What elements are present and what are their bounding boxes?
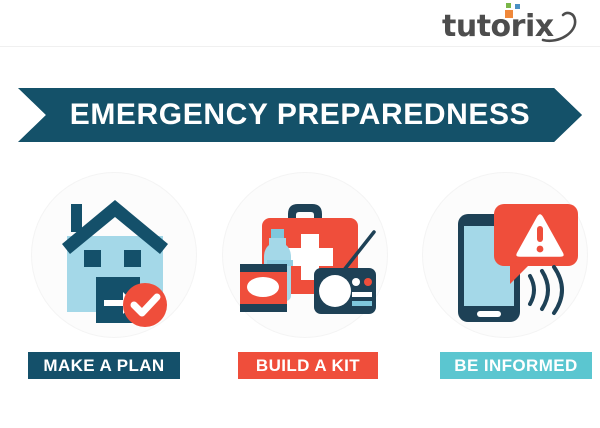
tutorix-logo: tutorix <box>442 8 582 46</box>
logo-dot-orange-icon <box>505 10 513 18</box>
card-be-informed: BE INFORMED <box>414 172 582 384</box>
phone-alert-icon <box>414 172 600 338</box>
label-build-a-kit: BUILD A KIT <box>238 352 378 379</box>
logo-dot-blue-icon <box>515 4 520 9</box>
label-make-a-plan: MAKE A PLAN <box>28 352 180 379</box>
house-with-arrow-and-check-icon <box>20 172 208 338</box>
banner-ribbon: EMERGENCY PREPAREDNESS <box>18 88 582 142</box>
page-header: tutorix <box>0 0 600 47</box>
label-be-informed: BE INFORMED <box>440 352 592 379</box>
logo-swoosh-icon <box>537 10 579 46</box>
card-build-a-kit: BUILD A KIT <box>218 172 386 384</box>
page-title: EMERGENCY PREPAREDNESS <box>70 98 531 132</box>
card-make-a-plan: MAKE A PLAN <box>20 172 188 384</box>
logo-dot-green-icon <box>506 3 511 8</box>
emergency-kit-icon <box>218 172 406 338</box>
infographic-canvas: tutorix EMERGENCY PREPAREDNESS <box>0 0 600 428</box>
